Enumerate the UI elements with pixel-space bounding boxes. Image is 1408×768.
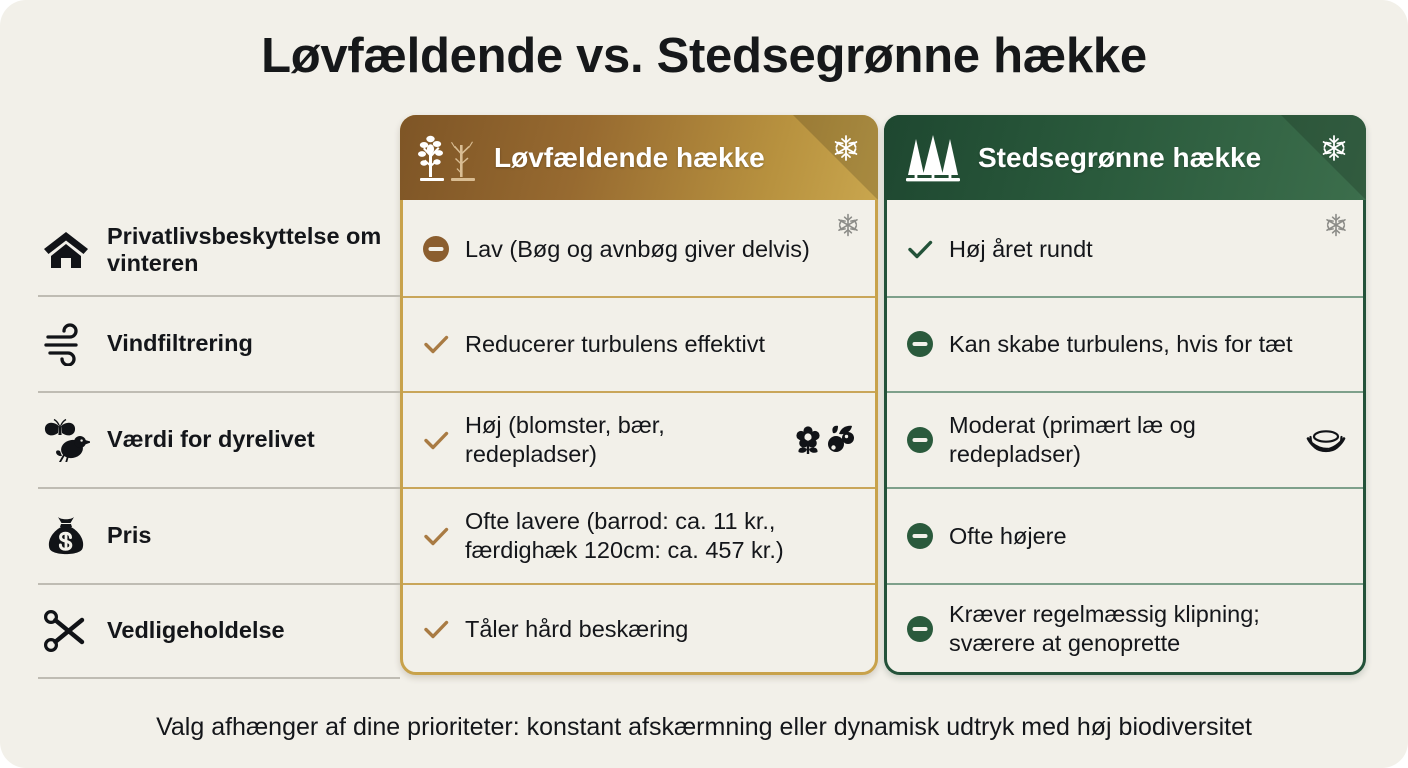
row-label-text: Privatlivsbeskyttelse om vinteren: [107, 223, 400, 278]
cell-text: Tåler hård beskæring: [465, 615, 859, 644]
check-icon: [421, 329, 451, 359]
snowflake-icon: [835, 212, 861, 238]
deciduous-header-label: Løvfældende hække: [494, 142, 765, 174]
cell-deciduous-privacy: Lav (Bøg og avnbøg giver delvis): [403, 203, 875, 295]
cell-text: Ofte lavere (barrod: ca. 11 kr., færdigh…: [465, 507, 859, 564]
cell-text: Høj (blomster, bær, redepladser): [465, 411, 779, 468]
flower-berries-icon: [793, 424, 859, 456]
cell-evergreen-maintenance: Kræver regelmæssig klipning; sværere at …: [887, 585, 1363, 673]
cell-text: Kræver regelmæssig klipning; sværere at …: [949, 600, 1347, 657]
check-icon: [421, 521, 451, 551]
snowflake-icon: [1319, 133, 1349, 163]
row-label-windfilter: Vindfiltrering: [38, 297, 400, 391]
minus-circle-icon: [905, 329, 935, 359]
cell-text: Ofte højere: [949, 522, 1347, 551]
minus-circle-icon: [905, 521, 935, 551]
snowflake-icon: [831, 133, 861, 163]
check-icon: [421, 425, 451, 455]
cell-deciduous-price: Ofte lavere (barrod: ca. 11 kr., færdigh…: [403, 489, 875, 583]
minus-circle-icon: [905, 614, 935, 644]
cell-deciduous-windfilter: Reducerer turbulens effektivt: [403, 297, 875, 391]
row-label-text: Værdi for dyrelivet: [107, 426, 315, 453]
cell-text: Lav (Bøg og avnbøg giver delvis): [465, 235, 859, 264]
cell-deciduous-wildlife: Høj (blomster, bær, redepladser): [403, 393, 875, 487]
cell-text: Reducerer turbulens effektivt: [465, 330, 859, 359]
footer-note: Valg afhænger af dine prioriteter: konst…: [0, 713, 1408, 742]
cell-evergreen-price: Ofte højere: [887, 489, 1363, 583]
birds-nest-icon: [1305, 424, 1347, 456]
row-label-privacy: Privatlivsbeskyttelse om vinteren: [38, 205, 400, 295]
conifer-trees-icon: [902, 127, 964, 189]
cell-evergreen-privacy: Høj året rundt: [887, 203, 1363, 295]
evergreen-header-label: Stedsegrønne hække: [978, 142, 1261, 174]
cell-evergreen-wildlife: Moderat (primært læ og redepladser): [887, 393, 1363, 487]
cell-deciduous-maintenance: Tåler hård beskæring: [403, 585, 875, 673]
cell-text: Kan skabe turbulens, hvis for tæt: [949, 330, 1347, 359]
row-divider: [38, 677, 400, 679]
snowflake-icon: [1323, 212, 1349, 238]
butterfly-bird-icon: [42, 418, 90, 462]
row-label-wildlife: Værdi for dyrelivet: [38, 393, 400, 487]
row-label-text: Pris: [107, 522, 151, 549]
cell-text: Høj året rundt: [949, 235, 1347, 264]
house-icon: [42, 228, 90, 272]
deciduous-trees-icon: [418, 127, 480, 189]
row-label-price: Pris: [38, 489, 400, 583]
page-title: Løvfældende vs. Stedsegrønne hække: [0, 28, 1408, 84]
minus-circle-icon: [421, 234, 451, 264]
row-label-text: Vindfiltrering: [107, 330, 253, 357]
row-label-maintenance: Vedligeholdelse: [38, 585, 400, 677]
check-icon: [421, 614, 451, 644]
check-icon: [905, 234, 935, 264]
cell-text: Moderat (primært læ og redepladser): [949, 411, 1291, 468]
scissors-icon: [42, 609, 90, 653]
deciduous-column-header: Løvfældende hække: [400, 115, 878, 200]
money-bag-icon: [42, 514, 90, 558]
minus-circle-icon: [905, 425, 935, 455]
row-label-text: Vedligeholdelse: [107, 617, 285, 644]
cell-evergreen-windfilter: Kan skabe turbulens, hvis for tæt: [887, 297, 1363, 391]
infographic-page: Løvfældende vs. Stedsegrønne hække: [0, 0, 1408, 768]
evergreen-column-header: Stedsegrønne hække: [884, 115, 1366, 200]
wind-icon: [42, 322, 90, 366]
